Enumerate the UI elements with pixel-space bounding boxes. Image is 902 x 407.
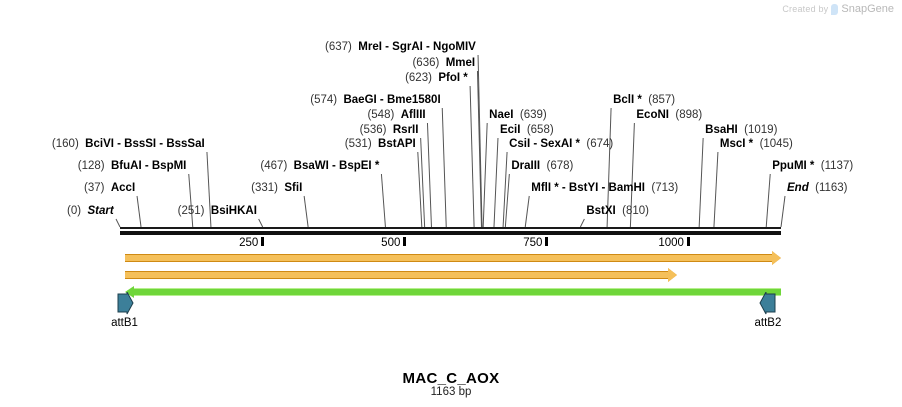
- site-position: (251): [178, 205, 205, 217]
- site-leader-line: [699, 138, 703, 227]
- site-enzyme-name: BsaHI: [705, 124, 738, 136]
- site-leader-line: [189, 174, 193, 227]
- site-enzyme-name: BstXI: [586, 205, 615, 217]
- ruler-tick: [545, 237, 548, 246]
- restriction-site-label: CsiI - SexAI * (674): [509, 138, 613, 151]
- site-leader-line: [470, 86, 474, 227]
- site-position: (1045): [760, 138, 793, 150]
- site-enzyme-name: AccI: [111, 182, 135, 194]
- restriction-site-label: (536) RsrII: [360, 124, 419, 137]
- site-position: (548): [367, 109, 394, 121]
- att-marker-label: attB1: [111, 317, 139, 329]
- feature-orange-1-arrowhead: [772, 251, 781, 265]
- restriction-site-label: BsaHI (1019): [705, 124, 777, 137]
- restriction-site-label: (637) MreI - SgrAI - NgoMIV: [325, 41, 476, 54]
- snapgene-watermark: Created by SnapGene: [782, 3, 894, 15]
- page-title: MAC_C_AOX: [0, 370, 902, 387]
- site-enzyme-name: DraIII: [511, 160, 540, 172]
- restriction-site-label: BclI * (857): [613, 94, 675, 107]
- site-position: (467): [260, 160, 287, 172]
- site-leader-line: [442, 108, 446, 227]
- att-marker-arrow-icon: [757, 292, 779, 316]
- site-leader-line: [477, 71, 481, 227]
- site-leader-line: [116, 219, 120, 227]
- restriction-site-label: (0) Start: [67, 205, 114, 218]
- plasmid-map-canvas: Created by SnapGene (160) BciVI - BssSI …: [0, 0, 902, 407]
- site-leader-line: [781, 196, 785, 227]
- feature-orange-2-body: [125, 271, 668, 279]
- ruler-tick-label: 250: [239, 237, 258, 249]
- ruler-tick: [261, 237, 264, 246]
- site-enzyme-name: CsiI - SexAI *: [509, 138, 580, 150]
- feature-orange-2-arrowhead: [668, 268, 677, 282]
- site-leader-line: [418, 152, 422, 227]
- ruler-tick-label: 1000: [658, 237, 684, 249]
- site-enzyme-name: BstAPI: [378, 138, 416, 150]
- site-enzyme-name: PfoI *: [438, 72, 467, 84]
- site-enzyme-name: EciI: [500, 124, 520, 136]
- site-leader-line: [421, 138, 425, 227]
- site-position: (574): [310, 94, 337, 106]
- site-leader-line: [525, 196, 529, 227]
- restriction-site-label: MflI * - BstYI - BamHI (713): [531, 182, 678, 195]
- site-enzyme-name: PpuMI *: [772, 160, 814, 172]
- site-enzyme-name: End: [787, 182, 809, 194]
- restriction-site-label: EcoNI (898): [636, 109, 702, 122]
- restriction-site-label: End (1163): [787, 182, 848, 195]
- site-leader-line: [259, 219, 263, 227]
- feature-green-1-body: [134, 288, 781, 296]
- restriction-site-label: (623) PfoI *: [405, 72, 468, 85]
- site-enzyme-name: MscI *: [720, 138, 753, 150]
- backbone-top-line: [120, 227, 781, 229]
- restriction-site-label: (251) BsiHKAI: [178, 205, 257, 218]
- restriction-site-label: DraIII (678): [511, 160, 573, 173]
- restriction-site-label: EciI (658): [500, 124, 554, 137]
- restriction-site-label: NaeI (639): [489, 109, 547, 122]
- site-leader-line: [483, 123, 487, 227]
- restriction-site-label: (37) AccI: [84, 182, 135, 195]
- site-leader-line: [381, 174, 385, 227]
- restriction-site-label: (331) SfiI: [251, 182, 302, 195]
- restriction-site-label: (548) AflIII: [367, 109, 425, 122]
- site-position: (0): [67, 205, 81, 217]
- site-enzyme-name: BfuAI - BspMI: [111, 160, 186, 172]
- site-position: (713): [651, 182, 678, 194]
- site-position: (658): [527, 124, 554, 136]
- site-enzyme-name: NaeI: [489, 109, 513, 121]
- site-enzyme-name: EcoNI: [636, 109, 669, 121]
- site-position: (678): [547, 160, 574, 172]
- watermark-brand: SnapGene: [841, 3, 894, 15]
- site-leader-line: [766, 174, 770, 227]
- att-marker-label: attB2: [754, 317, 782, 329]
- site-enzyme-name: MflI * - BstYI - BamHI: [531, 182, 645, 194]
- site-leader-line: [503, 152, 507, 227]
- site-position: (331): [251, 182, 278, 194]
- site-position: (636): [412, 57, 439, 69]
- sequence-length-label: 1163 bp: [0, 386, 902, 398]
- feature-orange-1-body: [125, 254, 772, 262]
- site-leader-line: [304, 196, 308, 227]
- site-position: (531): [345, 138, 372, 150]
- restriction-site-label: (160) BciVI - BssSI - BssSaI: [52, 138, 205, 151]
- site-leader-line: [580, 219, 584, 227]
- site-position: (674): [586, 138, 613, 150]
- site-leader-line: [505, 174, 509, 227]
- site-position: (1019): [744, 124, 777, 136]
- backbone-bottom-line: [120, 231, 781, 235]
- site-position: (810): [622, 205, 649, 217]
- site-enzyme-name: BciVI - BssSI - BssSaI: [85, 138, 205, 150]
- ruler-tick: [403, 237, 406, 246]
- site-enzyme-name: BaeGI - Bme1580I: [343, 94, 440, 106]
- restriction-site-label: (467) BsaWI - BspEI *: [260, 160, 379, 173]
- site-position: (1163): [815, 182, 847, 194]
- site-enzyme-name: MreI - SgrAI - NgoMIV: [358, 41, 476, 53]
- site-enzyme-name: BsaWI - BspEI *: [294, 160, 380, 172]
- restriction-site-label: (128) BfuAI - BspMI: [78, 160, 187, 173]
- site-position: (536): [360, 124, 387, 136]
- ruler-tick: [687, 237, 690, 246]
- site-position: (37): [84, 182, 104, 194]
- site-position: (128): [78, 160, 105, 172]
- site-enzyme-name: AflIII: [401, 109, 426, 121]
- restriction-site-label: (531) BstAPI: [345, 138, 416, 151]
- site-enzyme-name: Start: [87, 205, 113, 217]
- restriction-site-label: PpuMI * (1137): [772, 160, 853, 173]
- restriction-site-label: MscI * (1045): [720, 138, 793, 151]
- restriction-site-label: BstXI (810): [586, 205, 649, 218]
- att-marker-attB1[interactable]: attB1: [111, 292, 139, 329]
- site-position: (623): [405, 72, 432, 84]
- site-position: (857): [648, 94, 675, 106]
- ruler-tick-label: 750: [523, 237, 542, 249]
- site-enzyme-name: BclI *: [613, 94, 642, 106]
- site-position: (898): [675, 109, 702, 121]
- att-marker-arrow-icon: [114, 292, 136, 316]
- site-enzyme-name: BsiHKAI: [211, 205, 257, 217]
- restriction-site-label: (636) MmeI: [412, 57, 475, 70]
- site-position: (160): [52, 138, 79, 150]
- watermark-prefix: Created by: [782, 4, 828, 14]
- site-position: (637): [325, 41, 352, 53]
- site-position: (639): [520, 109, 547, 121]
- site-enzyme-name: RsrII: [393, 124, 419, 136]
- restriction-site-label: (574) BaeGI - Bme1580I: [310, 94, 440, 107]
- site-leader-line: [494, 138, 498, 227]
- site-enzyme-name: MmeI: [446, 57, 475, 69]
- site-leader-line: [427, 123, 431, 227]
- site-leader-line: [714, 152, 718, 227]
- ruler-tick-label: 500: [381, 237, 400, 249]
- site-position: (1137): [821, 160, 853, 172]
- att-marker-attB2[interactable]: attB2: [754, 292, 782, 329]
- site-leader-line: [478, 55, 482, 227]
- site-leader-line: [137, 196, 141, 227]
- site-enzyme-name: SfiI: [284, 182, 302, 194]
- snapgene-logo-icon: [831, 4, 838, 15]
